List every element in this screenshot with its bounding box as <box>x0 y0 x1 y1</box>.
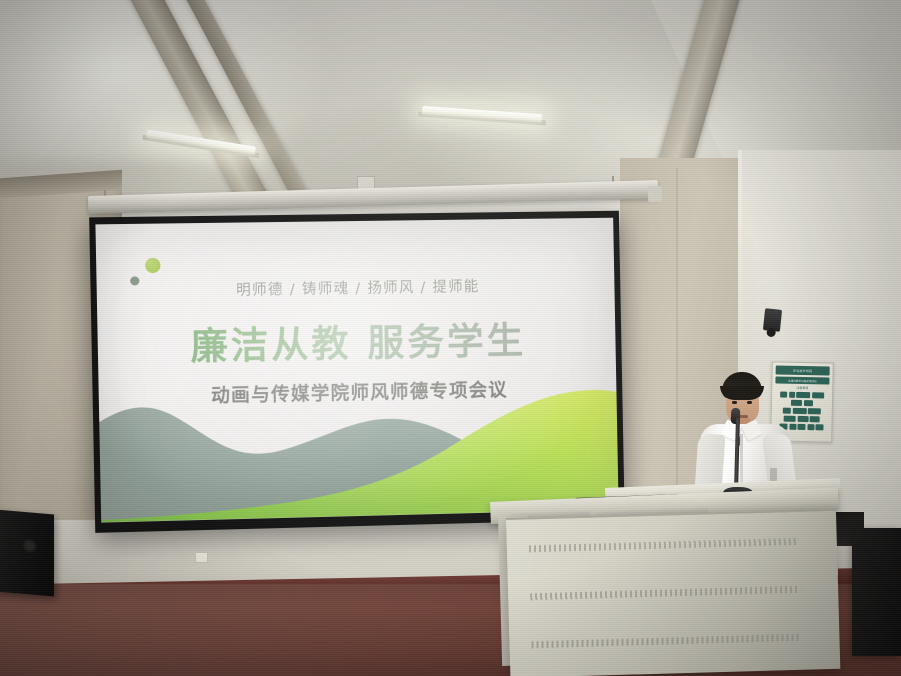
podium-vent-row <box>530 586 800 601</box>
power-outlet-left <box>195 552 208 563</box>
podium-body[interactable] <box>506 509 840 676</box>
equipment-cabinet-right <box>852 528 901 656</box>
podium-vent-row <box>529 538 799 553</box>
slide-title: 廉洁从教 服务学生 <box>97 309 616 372</box>
presenter-badge <box>770 468 777 481</box>
projection-screen[interactable]: 明师德 / 铸师魂 / 扬师风 / 提师能 廉洁从教 服务学生 动画与传媒学院师… <box>89 211 625 533</box>
lecture-hall-photo: 明师德 / 铸师魂 / 扬师风 / 提师能 廉洁从教 服务学生 动画与传媒学院师… <box>0 0 901 676</box>
podium-vent-row <box>531 634 801 649</box>
decor-dot-green <box>145 258 161 273</box>
wall-panel-seam <box>676 168 678 498</box>
screen-housing-cap <box>648 186 662 202</box>
slide-tagline: 明师德 / 铸师魂 / 扬师风 / 提师能 <box>97 273 615 302</box>
presentation-slide: 明师德 / 铸师魂 / 扬师风 / 提师能 廉洁从教 服务学生 动画与传媒学院师… <box>95 218 618 523</box>
floor-speaker-left <box>0 509 54 596</box>
wall-camera-icon <box>763 308 782 332</box>
